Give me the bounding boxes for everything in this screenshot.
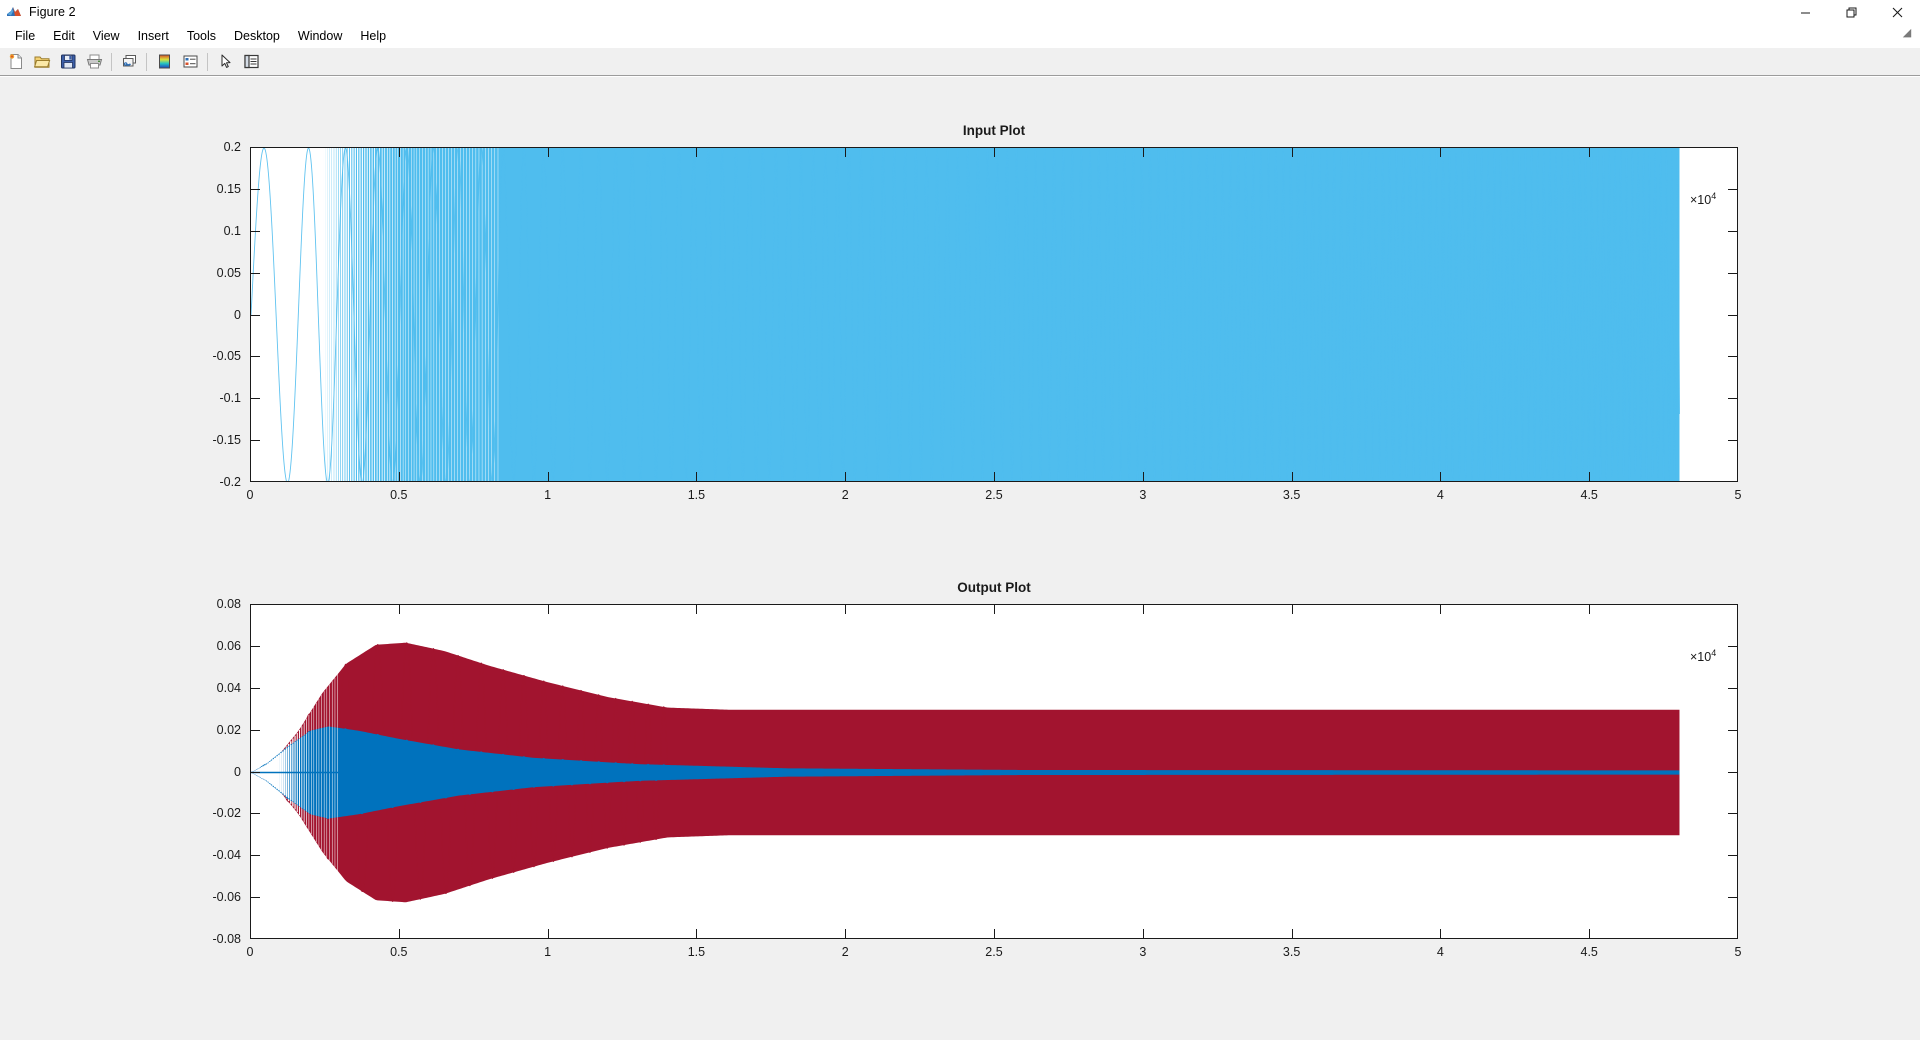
input-plot-box[interactable] [250,147,1738,482]
x-tick-label: 1.5 [688,945,705,959]
x-tick-mark-top [548,604,549,614]
y-tick-label: 0.06 [217,639,241,653]
matlab-figure-icon [6,4,22,20]
y-tick-label: 0.08 [217,597,241,611]
x-tick-mark [1589,472,1590,482]
y-tick-label: -0.1 [219,391,241,405]
y-tick-mark-right [1728,356,1738,357]
menu-bar: File Edit View Insert Tools Desktop Wind… [0,24,1920,48]
y-tick-mark [250,398,260,399]
y-tick-mark [250,813,260,814]
x-tick-mark-top [994,604,995,614]
y-tick-mark-right [1728,189,1738,190]
x-tick-mark-top [548,147,549,157]
menu-item-desktop[interactable]: Desktop [225,26,289,46]
y-tick-label: -0.04 [213,848,242,862]
arrow-pointer-icon [217,53,234,70]
floppy-disk-icon [60,53,77,70]
x-tick-label: 3 [1139,488,1146,502]
x-tick-mark-top [1292,604,1293,614]
x-tick-label: 5 [1735,488,1742,502]
y-tick-mark-right [1728,646,1738,647]
y-tick-mark [250,730,260,731]
x-tick-mark [1143,929,1144,939]
print-figure-button[interactable] [82,50,106,74]
menu-item-file[interactable]: File [6,26,44,46]
x-tick-mark-top [845,604,846,614]
maximize-button[interactable] [1828,0,1874,24]
y-tick-mark-right [1728,855,1738,856]
y-tick-label: 0.2 [224,140,241,154]
toolbar-separator [207,53,208,71]
y-tick-mark [250,440,260,441]
y-tick-mark [250,772,260,773]
input-plot-axes[interactable]: Input Plot 0.20.150.10.050-0.05-0.1-0.15… [250,147,1738,482]
x-tick-mark [1143,472,1144,482]
x-tick-label: 2 [842,945,849,959]
x-tick-mark [1292,929,1293,939]
plot-tools-icon [243,53,260,70]
x-tick-mark-top [1143,147,1144,157]
x-tick-mark [696,929,697,939]
x-tick-mark-top [399,604,400,614]
x-tick-label: 4.5 [1580,488,1597,502]
y-tick-mark-right [1728,688,1738,689]
y-tick-mark [250,356,260,357]
y-tick-label: 0.02 [217,723,241,737]
x-tick-label: 0 [247,945,254,959]
resize-grip-icon[interactable]: ◢ [1900,26,1914,40]
x-tick-mark-top [1440,147,1441,157]
new-figure-button[interactable] [4,50,28,74]
x-tick-label: 3.5 [1283,945,1300,959]
y-tick-mark [250,231,260,232]
y-tick-label: -0.02 [213,806,242,820]
y-tick-mark [250,315,260,316]
x-tick-label: 2 [842,488,849,502]
input-plot-x-exponent: ×104 [1690,191,1716,207]
toolbar-separator [146,53,147,71]
link-plot-icon [121,53,138,70]
menu-item-window[interactable]: Window [289,26,351,46]
y-tick-mark [250,855,260,856]
y-tick-mark-right [1728,440,1738,441]
x-tick-label: 1.5 [688,488,705,502]
y-tick-mark-right [1728,398,1738,399]
menu-item-insert[interactable]: Insert [129,26,178,46]
x-tick-label: 0 [247,488,254,502]
toolbar-separator [111,53,112,71]
x-tick-mark [1440,472,1441,482]
x-tick-mark-top [696,604,697,614]
x-tick-label: 1 [544,488,551,502]
y-tick-label: -0.06 [213,890,242,904]
y-tick-mark-right [1728,730,1738,731]
y-tick-label: 0.04 [217,681,241,695]
y-tick-label: -0.15 [213,433,242,447]
x-tick-label: 2.5 [985,945,1002,959]
colorbar-icon [156,53,173,70]
y-tick-label: 0.1 [224,224,241,238]
x-tick-label: 4 [1437,945,1444,959]
x-tick-mark-top [1589,147,1590,157]
y-tick-mark-right [1728,231,1738,232]
x-tick-label: 1 [544,945,551,959]
input-plot-title: Input Plot [250,123,1738,138]
x-tick-mark [845,929,846,939]
window-title-bar[interactable]: Figure 2 [0,0,1920,24]
legend-icon [182,53,199,70]
y-tick-mark [250,189,260,190]
x-tick-mark-top [1589,604,1590,614]
y-tick-label: 0 [234,765,241,779]
x-tick-mark [994,472,995,482]
y-tick-mark [250,897,260,898]
x-tick-mark [1292,472,1293,482]
x-tick-mark [399,929,400,939]
output-plot-x-exponent: ×104 [1690,648,1716,664]
insert-colorbar-button[interactable] [152,50,176,74]
x-tick-mark [1440,929,1441,939]
y-tick-label: -0.05 [213,349,242,363]
x-tick-mark-top [994,147,995,157]
show-plot-tools-button[interactable] [239,50,263,74]
y-tick-label: 0 [234,308,241,322]
output-plot-title: Output Plot [250,580,1738,595]
figure-toolbar [0,48,1920,76]
x-tick-label: 4 [1437,488,1444,502]
input-plot-series [251,148,1738,482]
y-tick-mark-right [1728,772,1738,773]
window-title: Figure 2 [29,5,76,19]
menu-item-edit[interactable]: Edit [44,26,84,46]
link-plot-button[interactable] [117,50,141,74]
edit-plot-button[interactable] [213,50,237,74]
x-tick-mark-top [399,147,400,157]
x-tick-mark [994,929,995,939]
menu-item-view[interactable]: View [84,26,129,46]
save-figure-button[interactable] [56,50,80,74]
output-plot-box[interactable] [250,604,1738,939]
minimize-button[interactable] [1782,0,1828,24]
figure-canvas[interactable]: Input Plot 0.20.150.10.050-0.05-0.1-0.15… [0,77,1920,1040]
menu-item-tools[interactable]: Tools [178,26,225,46]
x-tick-mark [399,472,400,482]
y-tick-label: -0.08 [213,932,242,946]
insert-legend-button[interactable] [178,50,202,74]
y-tick-label: 0.15 [217,182,241,196]
close-button[interactable] [1874,0,1920,24]
x-tick-mark [696,472,697,482]
x-tick-label: 3 [1139,945,1146,959]
output-plot-series [251,605,1738,939]
y-tick-mark-right [1728,897,1738,898]
x-tick-mark [1589,929,1590,939]
x-tick-label: 2.5 [985,488,1002,502]
x-tick-mark-top [1440,604,1441,614]
x-tick-mark [845,472,846,482]
x-tick-label: 0.5 [390,945,407,959]
x-tick-label: 5 [1735,945,1742,959]
x-tick-label: 4.5 [1580,945,1597,959]
y-tick-mark [250,688,260,689]
x-tick-mark [548,929,549,939]
x-tick-mark [548,472,549,482]
x-tick-mark-top [696,147,697,157]
window-controls [1782,0,1920,24]
menu-item-help[interactable]: Help [351,26,395,46]
y-tick-mark-right [1728,273,1738,274]
y-tick-mark [250,646,260,647]
x-tick-label: 0.5 [390,488,407,502]
x-tick-label: 3.5 [1283,488,1300,502]
x-tick-mark-top [1143,604,1144,614]
y-tick-label: -0.2 [219,475,241,489]
printer-icon [86,53,103,70]
y-tick-mark [250,273,260,274]
y-tick-mark-right [1728,813,1738,814]
new-document-icon [8,53,25,70]
output-plot-axes[interactable]: Output Plot 0.080.060.040.020-0.02-0.04-… [250,604,1738,939]
y-tick-label: 0.05 [217,266,241,280]
x-tick-mark-top [845,147,846,157]
x-tick-mark-top [1292,147,1293,157]
y-tick-mark-right [1728,315,1738,316]
open-folder-icon [34,53,51,70]
open-file-button[interactable] [30,50,54,74]
